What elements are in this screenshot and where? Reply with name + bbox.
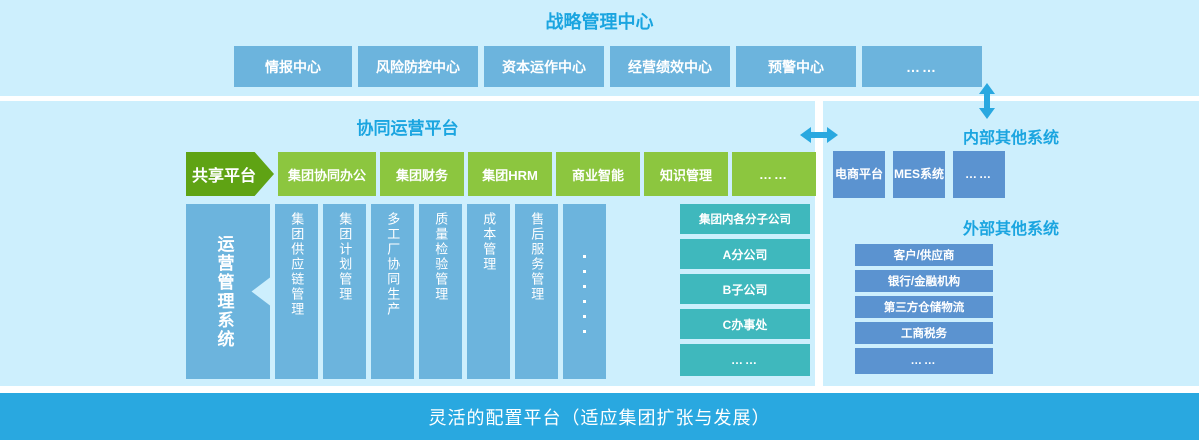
collab-platform-title: 协同运营平台	[0, 114, 815, 139]
ops-col-cost-management[interactable]: 成本管理	[467, 204, 510, 379]
module-group-hrm[interactable]: 集团HRM	[468, 152, 552, 196]
external-system-label: ……	[911, 355, 938, 367]
module-label: 集团财务	[396, 165, 448, 184]
ops-col-label: 质量检验管理	[431, 212, 451, 302]
ops-col-multi-factory-production[interactable]: 多工厂协同生产	[371, 204, 414, 379]
footer-label: 灵活的配置平台（适应集团扩张与发展）	[429, 404, 771, 430]
internal-systems-row: 电商平台 MES系统 ……	[833, 151, 1005, 198]
external-system-third-party-logistics[interactable]: 第三方仓储物流	[855, 296, 993, 318]
internal-system-label: MES系统	[894, 167, 944, 182]
dot-icon	[583, 255, 586, 258]
ops-col-more-dots[interactable]	[563, 204, 606, 379]
ops-col-plan-management[interactable]: 集团计划管理	[323, 204, 366, 379]
internal-system-mes[interactable]: MES系统	[893, 151, 945, 198]
subsidiary-label: C办事处	[723, 316, 768, 333]
strategy-box-more[interactable]: ……	[862, 46, 982, 87]
external-system-label: 客户/供应商	[894, 247, 955, 263]
strategy-box-label: 预警中心	[768, 57, 824, 77]
operations-system-arrow[interactable]: 运营管理系统	[186, 204, 270, 379]
strategy-box-row: 情报中心 风险防控中心 资本运作中心 经营绩效中心 预警中心 ……	[234, 46, 982, 87]
dot-icon	[583, 270, 586, 273]
architecture-diagram: 战略管理中心 情报中心 风险防控中心 资本运作中心 经营绩效中心 预警中心 ………	[0, 0, 1199, 440]
ops-col-label: 成本管理	[479, 212, 499, 272]
external-system-label: 第三方仓储物流	[884, 299, 965, 315]
ops-col-supply-chain[interactable]: 集团供应链管理	[275, 204, 318, 379]
strategy-box-intelligence[interactable]: 情报中心	[234, 46, 352, 87]
ops-col-label: 集团计划管理	[335, 212, 355, 302]
vertical-double-arrow-icon	[976, 82, 998, 120]
strategy-box-label: 经营绩效中心	[628, 57, 712, 77]
internal-system-label: 电商平台	[835, 167, 883, 182]
strategy-box-risk-control[interactable]: 风险防控中心	[358, 46, 478, 87]
dot-icon	[583, 285, 586, 288]
module-business-intelligence[interactable]: 商业智能	[556, 152, 640, 196]
internal-systems-title: 内部其他系统	[823, 124, 1199, 148]
strategy-box-performance[interactable]: 经营绩效中心	[610, 46, 730, 87]
subsidiary-label: 集团内各分子公司	[699, 211, 791, 227]
footer-band: 灵活的配置平台（适应集团扩张与发展）	[0, 393, 1199, 440]
module-group-finance[interactable]: 集团财务	[380, 152, 464, 196]
ops-col-label: 集团供应链管理	[287, 212, 307, 317]
operations-row: 运营管理系统 集团供应链管理 集团计划管理 多工厂协同生产 质量检验管理 成本管…	[186, 204, 606, 379]
subsidiary-office-c[interactable]: C办事处	[680, 309, 810, 339]
external-system-label: 工商税务	[901, 325, 947, 341]
subsidiary-group-header[interactable]: 集团内各分子公司	[680, 204, 810, 234]
ops-col-label: 售后服务管理	[527, 212, 547, 302]
module-label: ……	[759, 167, 789, 182]
internal-system-label: ……	[965, 167, 993, 182]
ops-col-label: 多工厂协同生产	[383, 212, 403, 317]
module-label: 知识管理	[660, 165, 712, 184]
module-label: 商业智能	[572, 165, 624, 184]
subsidiary-more[interactable]: ……	[680, 344, 810, 376]
dot-icon	[583, 300, 586, 303]
subsidiary-label: ……	[731, 353, 759, 367]
module-label: 集团协同办公	[288, 165, 366, 184]
ops-col-after-sales-service[interactable]: 售后服务管理	[515, 204, 558, 379]
external-systems-column: 客户/供应商 银行/金融机构 第三方仓储物流 工商税务 ……	[855, 244, 993, 374]
strategy-box-label: ……	[906, 59, 938, 75]
strategy-box-label: 风险防控中心	[376, 57, 460, 77]
external-system-label: 银行/金融机构	[888, 273, 960, 289]
subsidiaries-column: 集团内各分子公司 A分公司 B子公司 C办事处 ……	[680, 204, 810, 376]
subsidiary-company-b[interactable]: B子公司	[680, 274, 810, 304]
dot-icon	[583, 315, 586, 318]
module-group-collab-office[interactable]: 集团协同办公	[278, 152, 376, 196]
operations-system-label: 运营管理系统	[212, 235, 245, 349]
module-knowledge-management[interactable]: 知识管理	[644, 152, 728, 196]
strategy-box-early-warning[interactable]: 预警中心	[736, 46, 856, 87]
external-system-more[interactable]: ……	[855, 348, 993, 374]
shared-platform-arrow[interactable]: 共享平台	[186, 152, 274, 196]
external-system-bank-financial[interactable]: 银行/金融机构	[855, 270, 993, 292]
internal-system-ecommerce[interactable]: 电商平台	[833, 151, 885, 198]
module-label: 集团HRM	[482, 165, 538, 184]
subsidiary-label: B子公司	[723, 281, 768, 298]
strategy-box-label: 情报中心	[265, 57, 321, 77]
subsidiary-label: A分公司	[723, 246, 768, 263]
external-systems-title: 外部其他系统	[823, 215, 1199, 239]
strategy-box-capital-operation[interactable]: 资本运作中心	[484, 46, 604, 87]
ops-col-quality-inspection[interactable]: 质量检验管理	[419, 204, 462, 379]
external-system-tax-commerce[interactable]: 工商税务	[855, 322, 993, 344]
subsidiary-branch-a[interactable]: A分公司	[680, 239, 810, 269]
internal-system-more[interactable]: ……	[953, 151, 1005, 198]
horizontal-double-arrow-icon	[799, 124, 839, 146]
shared-platform-row: 共享平台 集团协同办公 集团财务 集团HRM 商业智能 知识管理 ……	[186, 152, 816, 196]
dot-icon	[583, 330, 586, 333]
strategy-title: 战略管理中心	[0, 8, 1199, 34]
strategy-band: 战略管理中心 情报中心 风险防控中心 资本运作中心 经营绩效中心 预警中心 ……	[0, 0, 1199, 96]
shared-platform-label: 共享平台	[192, 162, 256, 186]
strategy-box-label: 资本运作中心	[502, 57, 586, 77]
module-more[interactable]: ……	[732, 152, 816, 196]
external-system-customer-supplier[interactable]: 客户/供应商	[855, 244, 993, 266]
